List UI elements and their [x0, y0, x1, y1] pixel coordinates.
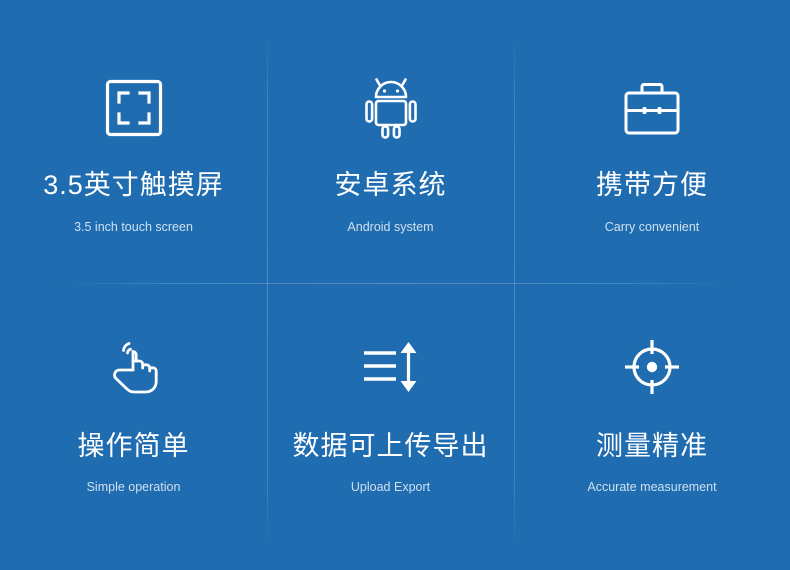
feature-cell-carry-convenient: 携带方便 Carry convenient [514, 0, 790, 283]
feature-subtitle: Simple operation [87, 481, 181, 494]
feature-cell-android-system: 安卓系统 Android system [267, 0, 514, 283]
upload-export-icon [362, 331, 420, 403]
briefcase-icon [622, 72, 682, 144]
feature-title: 数据可上传导出 [293, 433, 489, 460]
feature-title: 安卓系统 [335, 172, 447, 199]
feature-subtitle: Carry convenient [605, 221, 700, 234]
android-robot-icon [363, 72, 419, 144]
crosshair-target-icon [623, 331, 681, 403]
screen-frame-icon [104, 72, 164, 144]
pointing-hand-icon [103, 331, 165, 403]
feature-subtitle: Android system [347, 221, 433, 234]
feature-subtitle: 3.5 inch touch screen [74, 221, 193, 234]
feature-board: 3.5英寸触摸屏 3.5 inch touch screen [0, 0, 790, 570]
feature-grid: 3.5英寸触摸屏 3.5 inch touch screen [0, 0, 790, 570]
feature-title: 3.5英寸触摸屏 [43, 172, 224, 199]
feature-cell-simple-operation: 操作简单 Simple operation [0, 283, 267, 570]
feature-title: 操作简单 [78, 433, 190, 460]
feature-subtitle: Accurate measurement [587, 481, 716, 494]
feature-title: 测量精准 [596, 433, 708, 460]
feature-cell-touch-screen: 3.5英寸触摸屏 3.5 inch touch screen [0, 0, 267, 283]
feature-title: 携带方便 [596, 172, 708, 199]
feature-cell-upload-export: 数据可上传导出 Upload Export [267, 283, 514, 570]
feature-cell-accurate-measurement: 测量精准 Accurate measurement [514, 283, 790, 570]
feature-subtitle: Upload Export [351, 481, 430, 494]
